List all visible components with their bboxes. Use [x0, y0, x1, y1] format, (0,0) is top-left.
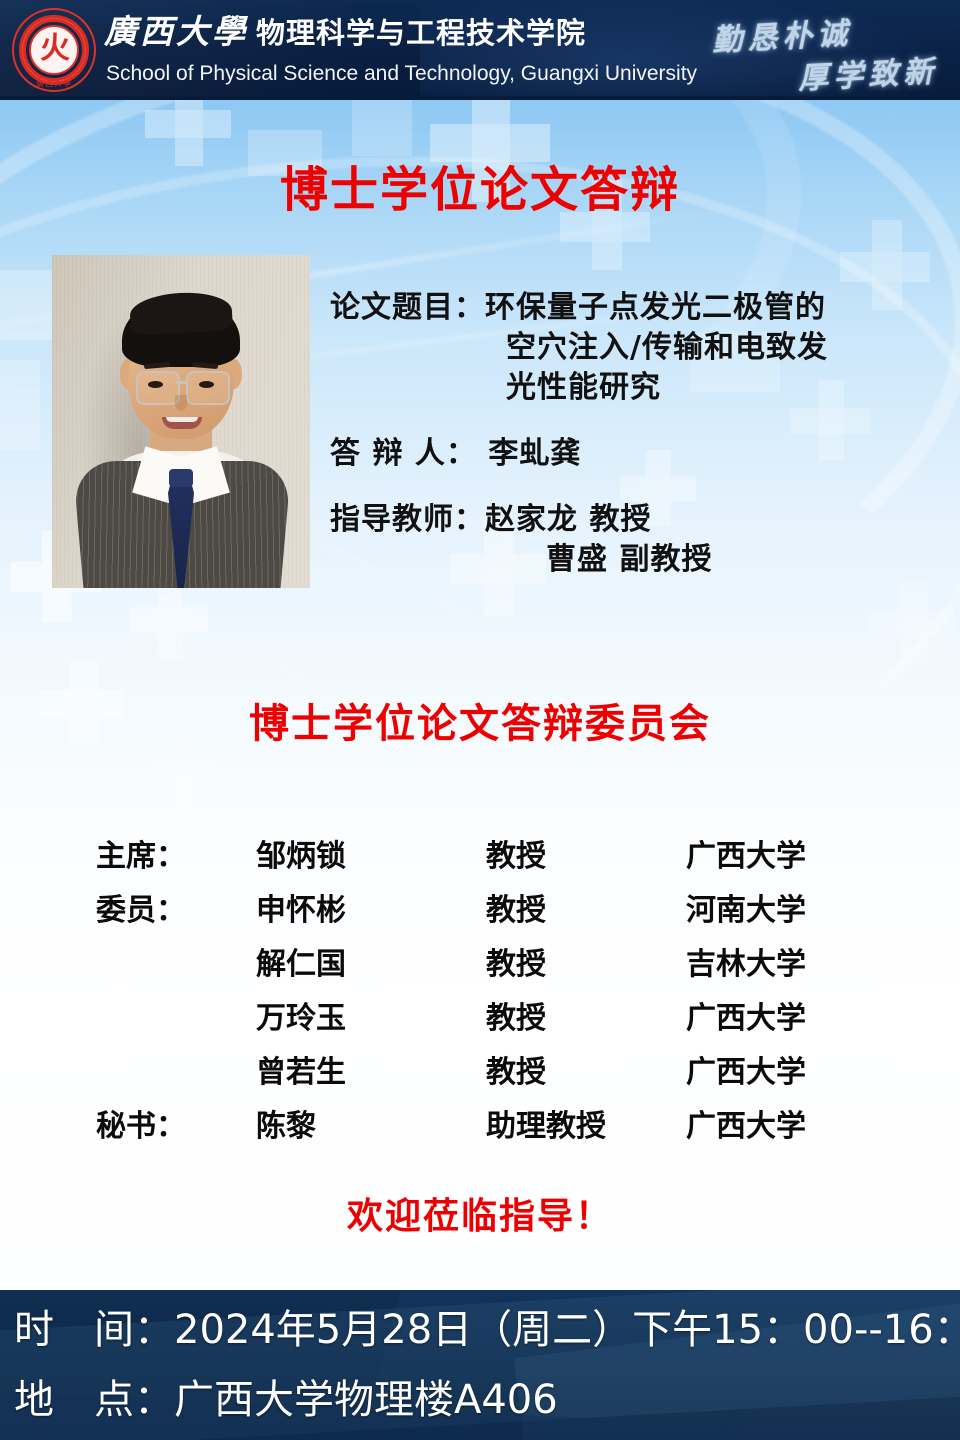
committee-member-rank: 教授 [486, 884, 686, 938]
thesis-title-line1: 环保量子点发光二极管的 [485, 290, 826, 325]
table-row: 秘书： 陈黎 助理教授 广西大学 [96, 1100, 886, 1154]
time-label: 时 间： [14, 1307, 174, 1353]
committee-member-org: 河南大学 [686, 884, 886, 938]
committee-member-rank: 教授 [486, 992, 686, 1046]
header-english-title: School of Physical Science and Technolog… [106, 60, 697, 88]
presenter-label: 答 辩 人： [330, 436, 477, 471]
thesis-title-row: 论文题目：环保量子点发光二极管的 [330, 288, 930, 328]
committee-member-name: 陈黎 [256, 1100, 486, 1154]
thesis-title-line3: 光性能研究 [330, 368, 930, 408]
committee-role [96, 1046, 256, 1100]
page-title: 博士学位论文答辩 [0, 162, 960, 218]
table-row: 曾若生 教授 广西大学 [96, 1046, 886, 1100]
welcome-message: 欢迎莅临指导！ [0, 1195, 960, 1239]
committee-member-rank: 教授 [486, 830, 686, 884]
committee-member-org: 广西大学 [686, 1100, 886, 1154]
header-university-name: 廣西大學 [104, 12, 256, 51]
committee-role: 主席： [96, 830, 256, 884]
event-time: 时 间：2024年5月28日（周二）下午15：00--16：30 [14, 1305, 960, 1355]
committee-role [96, 938, 256, 992]
committee-member-name: 申怀彬 [256, 884, 486, 938]
committee-member-rank: 助理教授 [486, 1100, 686, 1154]
presenter-name: 李虬龚 [488, 436, 581, 471]
poster-content: 博士学位论文答辩 [0, 100, 960, 1290]
candidate-portrait [52, 255, 310, 588]
presenter-row: 答 辩 人： 李虬龚 [330, 434, 930, 474]
poster-header: 火 廣西大學 廣西大學物理科学与工程技术学院 School of Physica… [0, 0, 960, 100]
header-school-name: 物理科学与工程技术学院 [256, 16, 586, 50]
advisor-name-2: 曹盛 副教授 [330, 540, 930, 580]
advisor-row: 指导教师：赵家龙 教授 [330, 500, 930, 540]
committee-role [96, 992, 256, 1046]
seal-flame-glyph: 火 [40, 32, 68, 68]
event-location: 地 点：广西大学物理楼A406 [14, 1375, 558, 1425]
guangxi-university-seal-icon: 火 廣西大學 [8, 4, 100, 96]
table-row: 委员： 申怀彬 教授 河南大学 [96, 884, 886, 938]
place-value: 广西大学物理楼A406 [174, 1377, 558, 1423]
thesis-title-line2: 空穴注入/传输和电致发 [330, 328, 930, 368]
advisor-label: 指导教师： [330, 502, 485, 537]
committee-role: 委员： [96, 884, 256, 938]
advisor-name-1: 赵家龙 教授 [485, 502, 651, 537]
table-row: 万玲玉 教授 广西大学 [96, 992, 886, 1046]
motto-line-2: 厚学致新 [797, 46, 939, 97]
committee-member-name: 曾若生 [256, 1046, 486, 1100]
time-value: 2024年5月28日（周二）下午15：00--16：30 [174, 1307, 960, 1353]
committee-member-org: 吉林大学 [686, 938, 886, 992]
committee-table: 主席： 邹炳锁 教授 广西大学 委员： 申怀彬 教授 河南大学 解仁国 教授 吉… [96, 830, 886, 1154]
committee-role: 秘书： [96, 1100, 256, 1154]
committee-member-rank: 教授 [486, 938, 686, 992]
poster-footer: 时 间：2024年5月28日（周二）下午15：00--16：30 地 点：广西大… [0, 1290, 960, 1440]
committee-member-name: 邹炳锁 [256, 830, 486, 884]
seal-base-text: 廣西大學 [28, 78, 80, 90]
committee-heading: 博士学位论文答辩委员会 [0, 700, 960, 748]
table-row: 解仁国 教授 吉林大学 [96, 938, 886, 992]
thesis-label: 论文题目： [330, 290, 485, 325]
header-chinese-title: 廣西大學物理科学与工程技术学院 [104, 10, 586, 55]
defense-details: 论文题目：环保量子点发光二极管的 空穴注入/传输和电致发 光性能研究 答 辩 人… [330, 288, 930, 580]
table-row: 主席： 邹炳锁 教授 广西大学 [96, 830, 886, 884]
committee-member-rank: 教授 [486, 1046, 686, 1100]
committee-member-name: 解仁国 [256, 938, 486, 992]
place-label: 地 点： [14, 1377, 174, 1423]
committee-member-org: 广西大学 [686, 1046, 886, 1100]
defense-announcement-poster: 火 廣西大學 廣西大學物理科学与工程技术学院 School of Physica… [0, 0, 960, 1440]
committee-member-org: 广西大学 [686, 992, 886, 1046]
committee-member-org: 广西大学 [686, 830, 886, 884]
committee-member-name: 万玲玉 [256, 992, 486, 1046]
